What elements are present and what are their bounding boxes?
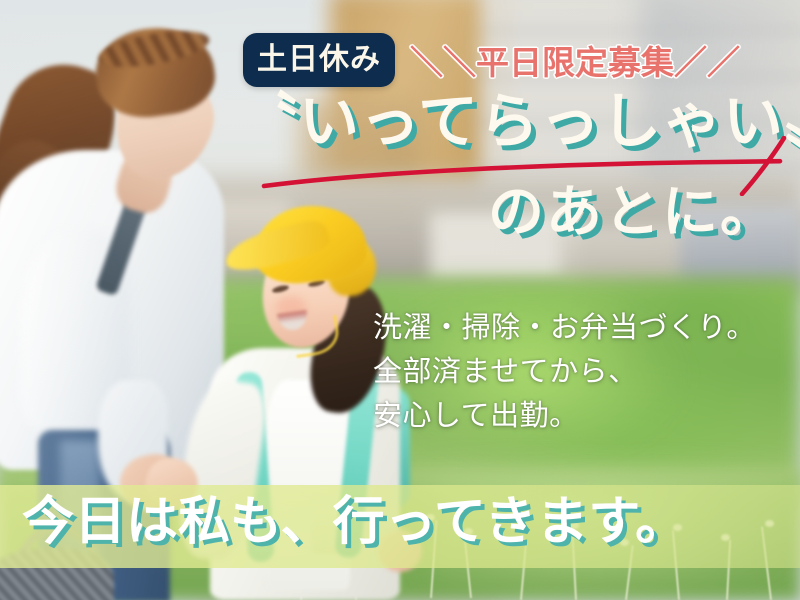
subtext-line-1: 洗濯・掃除・お弁当づくり。 xyxy=(373,304,756,346)
headline-group: 〝いってらっしゃい〟 のあとに。 xyxy=(0,0,800,260)
subtext-line-3: 安心して出勤。 xyxy=(373,392,579,434)
headline-line-2: のあとに。 xyxy=(488,184,778,240)
headline-line-1: 〝いってらっしゃい〟 xyxy=(238,92,800,152)
subtext-line-2: 全部済ませてから、 xyxy=(373,348,638,390)
bottom-banner-label: 今日は私も、行ってきます。 xyxy=(22,494,687,551)
banner-canvas: 土日休み ＼＼平日限定募集／／ 〝いってらっしゃい〟 のあとに。 洗濯・掃除・お… xyxy=(0,0,800,600)
